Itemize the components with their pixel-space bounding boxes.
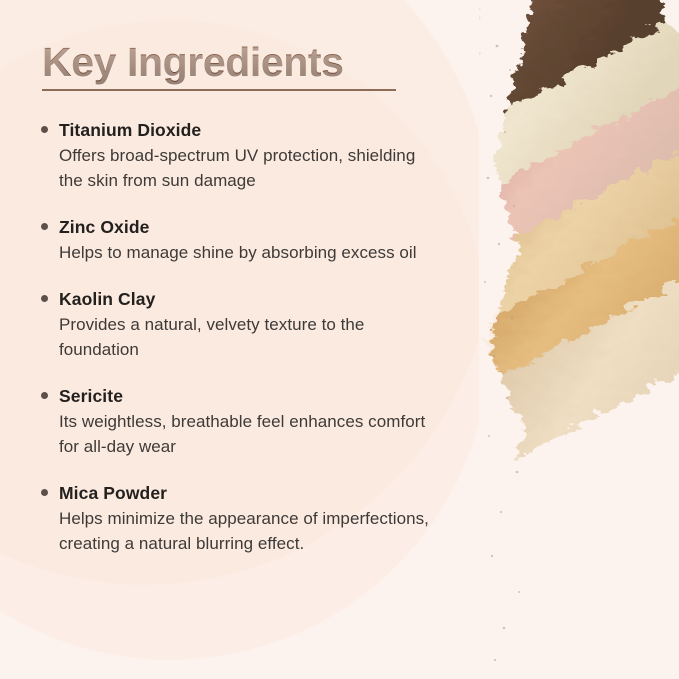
list-item: Titanium Dioxide Offers broad-spectrum U…	[38, 118, 442, 193]
page-title-block: Key Ingredients	[42, 38, 442, 91]
page-title: Key Ingredients	[42, 38, 442, 86]
ingredient-name: Mica Powder	[59, 481, 442, 505]
ingredients-infographic: Key Ingredients Titanium Dioxide Offers …	[0, 0, 679, 679]
list-item: Kaolin Clay Provides a natural, velvety …	[38, 287, 442, 362]
title-underline	[42, 89, 396, 91]
ingredient-name: Zinc Oxide	[59, 215, 442, 239]
list-item: Sericite Its weightless, breathable feel…	[38, 384, 442, 459]
powder-swatch-image	[479, 0, 679, 679]
ingredient-description: Helps to manage shine by absorbing exces…	[59, 240, 442, 265]
bullet-icon	[41, 489, 48, 496]
ingredients-list: Titanium Dioxide Offers broad-spectrum U…	[38, 118, 442, 556]
bullet-icon	[41, 392, 48, 399]
bullet-icon	[41, 223, 48, 230]
bullet-icon	[41, 126, 48, 133]
ingredient-name: Titanium Dioxide	[59, 118, 442, 142]
ingredient-description: Offers broad-spectrum UV protection, shi…	[59, 143, 442, 193]
ingredient-name: Kaolin Clay	[59, 287, 442, 311]
ingredient-name: Sericite	[59, 384, 442, 408]
ingredient-description: Provides a natural, velvety texture to t…	[59, 312, 442, 362]
ingredient-description: Helps minimize the appearance of imperfe…	[59, 506, 442, 556]
list-item: Zinc Oxide Helps to manage shine by abso…	[38, 215, 442, 265]
bullet-icon	[41, 295, 48, 302]
list-item: Mica Powder Helps minimize the appearanc…	[38, 481, 442, 556]
powder-swatch-graphic	[479, 0, 679, 679]
ingredient-description: Its weightless, breathable feel enhances…	[59, 409, 442, 459]
